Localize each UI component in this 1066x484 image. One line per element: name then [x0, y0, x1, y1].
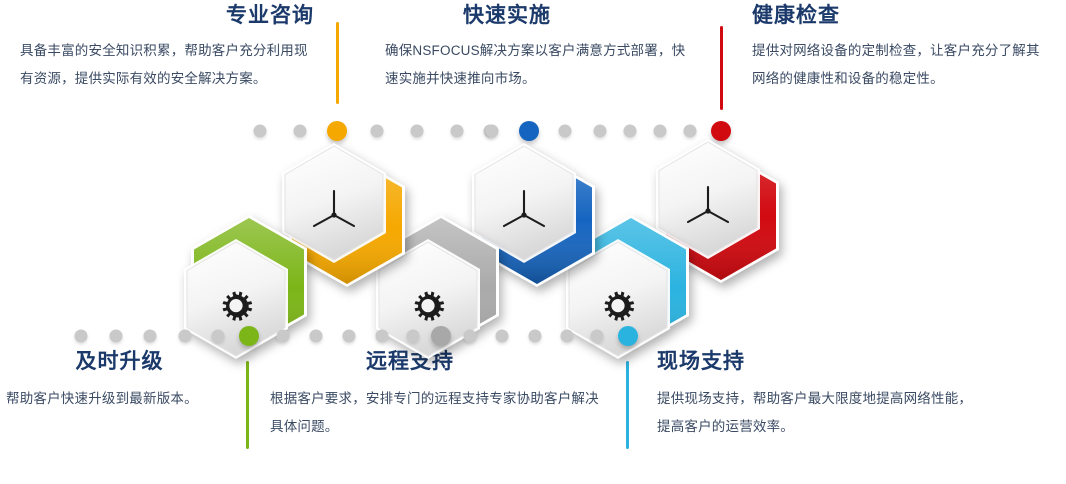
text-block-rapid-implementation: 快速实施 确保NSFOCUS解决方案以客户满意方式部署，快速实施并快速推向市场。 — [385, 4, 695, 92]
node-title-professional-consulting: 专业咨询 — [20, 4, 314, 27]
node-description-health-check: 提供对网络设备的定制检查，让客户充分了解其网络的健康性和设备的稳定性。 — [752, 37, 1044, 92]
accent-line-onsite-support — [626, 361, 629, 449]
node-title-rapid-implementation: 快速实施 — [385, 4, 695, 27]
accent-line-health-check — [720, 26, 723, 110]
text-block-timely-upgrade: 及时升级 帮助客户快速升级到最新版本。 — [6, 350, 233, 413]
node-title-health-check: 健康检查 — [752, 4, 1044, 27]
node-title-timely-upgrade: 及时升级 — [6, 350, 233, 373]
node-description-onsite-support: 提供现场支持，帮助客户最大限度地提高网络性能，提高客户的运营效率。 — [657, 385, 975, 440]
infographic-canvas: 专业咨询 具备丰富的安全知识积累，帮助客户充分利用现有资源，提供实际有效的安全解… — [0, 0, 1066, 484]
bottom-dot-rail — [0, 323, 1066, 349]
accent-line-professional-consulting — [336, 22, 339, 104]
accent-line-timely-upgrade — [246, 361, 249, 449]
rail-marker-professional-consulting — [327, 121, 347, 141]
node-description-remote-support: 根据客户要求，安排专门的远程支持专家协助客户解决具体问题。 — [270, 385, 600, 440]
node-description-professional-consulting: 具备丰富的安全知识积累，帮助客户充分利用现有资源，提供实际有效的安全解决方案。 — [20, 37, 314, 92]
top-dot-rail — [0, 118, 1066, 144]
node-description-timely-upgrade: 帮助客户快速升级到最新版本。 — [6, 385, 233, 413]
rail-marker-onsite-support — [618, 326, 638, 346]
text-block-onsite-support: 现场支持 提供现场支持，帮助客户最大限度地提高网络性能，提高客户的运营效率。 — [657, 350, 975, 440]
rail-marker-remote-support — [431, 326, 451, 346]
rail-marker-rapid-implementation — [519, 121, 539, 141]
node-description-rapid-implementation: 确保NSFOCUS解决方案以客户满意方式部署，快速实施并快速推向市场。 — [385, 37, 695, 92]
text-block-remote-support: 远程支持 根据客户要求，安排专门的远程支持专家协助客户解决具体问题。 — [270, 350, 600, 440]
rail-marker-health-check — [711, 121, 731, 141]
text-block-professional-consulting: 专业咨询 具备丰富的安全知识积累，帮助客户充分利用现有资源，提供实际有效的安全解… — [20, 4, 314, 92]
rail-marker-timely-upgrade — [239, 326, 259, 346]
node-title-onsite-support: 现场支持 — [657, 350, 975, 373]
text-block-health-check: 健康检查 提供对网络设备的定制检查，让客户充分了解其网络的健康性和设备的稳定性。 — [752, 4, 1044, 92]
